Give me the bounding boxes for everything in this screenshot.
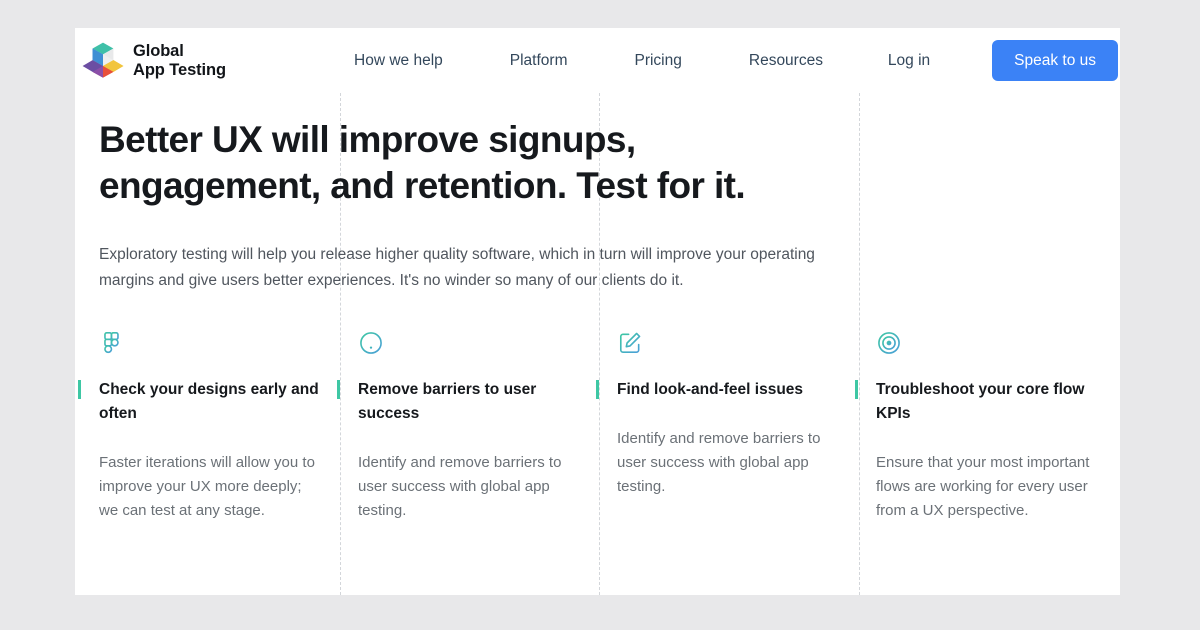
feature-heading-3: Find look-and-feel issues xyxy=(617,378,842,402)
feature-column-4: Troubleshoot your core flow KPIs Ensure … xyxy=(876,330,1120,524)
login-link[interactable]: Log in xyxy=(888,52,930,70)
nav-link-pricing[interactable]: Pricing xyxy=(634,44,681,78)
feature-column-1: Check your designs early and often Faste… xyxy=(99,330,358,524)
exclamation-circle-icon xyxy=(358,330,384,356)
feature-column-2: Remove barriers to user success Identify… xyxy=(358,330,617,524)
edit-pencil-square-icon xyxy=(617,330,643,356)
accent-bar-icon xyxy=(855,380,858,399)
feature-heading-wrap-4: Troubleshoot your core flow KPIs xyxy=(876,378,1101,426)
brand-logo-link[interactable]: Global App Testing xyxy=(82,41,226,81)
feature-heading-1: Check your designs early and often xyxy=(99,378,324,426)
feature-body-2: Identify and remove barriers to user suc… xyxy=(358,451,583,524)
features-section: Check your designs early and often Faste… xyxy=(75,330,1120,524)
feature-heading-4: Troubleshoot your core flow KPIs xyxy=(876,378,1101,426)
nav-link-resources[interactable]: Resources xyxy=(749,44,823,78)
feature-body-4: Ensure that your most important flows ar… xyxy=(876,451,1101,524)
feature-column-3: Find look-and-feel issues Identify and r… xyxy=(617,330,876,524)
page-title: Better UX will improve signups, engageme… xyxy=(99,117,859,210)
hero-subtitle: Exploratory testing will help you releas… xyxy=(99,242,841,295)
main-nav: How we help Platform Pricing Resources xyxy=(354,44,823,78)
speak-to-us-button[interactable]: Speak to us xyxy=(992,40,1118,82)
hexagon-logo-icon xyxy=(82,41,124,81)
feature-heading-2: Remove barriers to user success xyxy=(358,378,583,426)
accent-bar-icon xyxy=(78,380,81,399)
hero-section: Better UX will improve signups, engageme… xyxy=(75,93,1120,295)
feature-heading-wrap-2: Remove barriers to user success xyxy=(358,378,583,426)
accent-bar-icon xyxy=(596,380,599,399)
brand-text-line1: Global xyxy=(133,42,184,60)
site-header: Global App Testing How we help Platform … xyxy=(75,28,1120,93)
target-bullseye-icon xyxy=(876,330,902,356)
nav-link-how-we-help[interactable]: How we help xyxy=(354,44,443,78)
header-actions: Log in Speak to us xyxy=(888,40,1120,82)
page-card: Global App Testing How we help Platform … xyxy=(75,28,1120,595)
brand-text: Global App Testing xyxy=(133,42,226,79)
nav-link-platform[interactable]: Platform xyxy=(510,44,568,78)
brand-text-line2: App Testing xyxy=(133,61,226,79)
feature-heading-wrap-3: Find look-and-feel issues xyxy=(617,378,842,402)
feature-heading-wrap-1: Check your designs early and often xyxy=(99,378,324,426)
accent-bar-icon xyxy=(337,380,340,399)
feature-body-1: Faster iterations will allow you to impr… xyxy=(99,451,324,524)
figma-icon xyxy=(99,330,125,356)
feature-body-3: Identify and remove barriers to user suc… xyxy=(617,427,842,500)
